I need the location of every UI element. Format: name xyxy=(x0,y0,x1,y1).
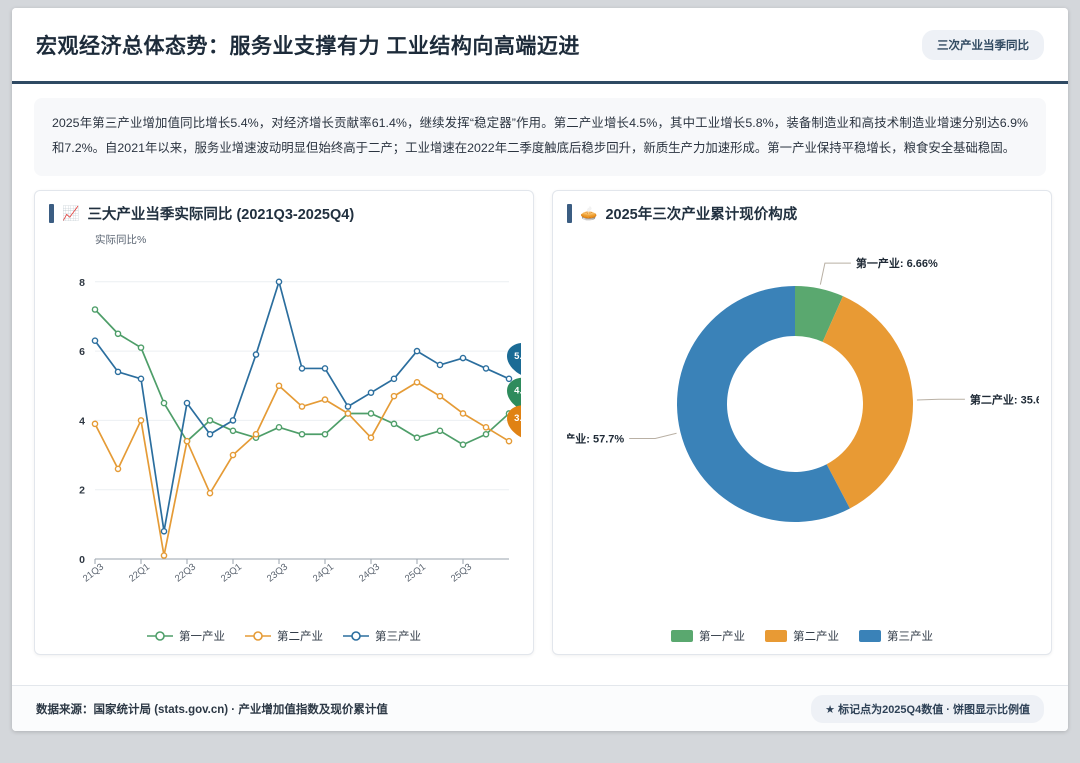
svg-text:25Q1: 25Q1 xyxy=(403,561,428,584)
legend-item-secondary[interactable]: 第二产业 xyxy=(765,628,839,644)
line-chart-icon: 📈 xyxy=(62,206,79,220)
pie-chart-icon: 🥧 xyxy=(580,206,597,220)
page-title: 宏观经济总体态势：服务业支撑有力 工业结构向高端迈进 xyxy=(36,30,580,60)
svg-text:22Q3: 22Q3 xyxy=(173,561,198,584)
accent-bar xyxy=(49,204,54,223)
svg-text:4.2%: 4.2% xyxy=(514,385,521,396)
legend-marker-tertiary xyxy=(343,630,369,642)
svg-text:0: 0 xyxy=(79,554,85,566)
line-chart-panel: 📈 三大产业当季实际同比 (2021Q3-2025Q4) 实际同比% 02468… xyxy=(34,190,534,655)
accent-bar xyxy=(567,204,572,223)
svg-text:24Q3: 24Q3 xyxy=(357,561,382,584)
pie-chart-title: 2025年三次产业累计现价构成 xyxy=(605,203,797,224)
svg-text:第三产业: 57.7%: 第三产业: 57.7% xyxy=(567,431,624,445)
line-chart-title: 三大产业当季实际同比 (2021Q3-2025Q4) xyxy=(87,203,354,224)
legend-marker-primary xyxy=(147,630,173,642)
line-chart-header: 📈 三大产业当季实际同比 (2021Q3-2025Q4) xyxy=(49,203,519,224)
summary-section: 2025年第三产业增加值同比增长5.4%，对经济增长贡献率61.4%，继续发挥“… xyxy=(12,84,1068,176)
legend-swatch-primary xyxy=(671,630,693,642)
svg-text:6: 6 xyxy=(79,346,85,358)
legend-item-tertiary[interactable]: 第三产业 xyxy=(859,628,933,644)
svg-text:8: 8 xyxy=(79,276,85,288)
legend-label-primary: 第一产业 xyxy=(699,628,745,644)
svg-text:第二产业: 35.64%: 第二产业: 35.64% xyxy=(970,392,1039,406)
legend-item-secondary[interactable]: 第二产业 xyxy=(245,628,323,644)
svg-text:4: 4 xyxy=(79,415,85,427)
legend-marker-secondary xyxy=(245,630,271,642)
svg-text:23Q3: 23Q3 xyxy=(265,561,290,584)
pie-chart-panel: 🥧 2025年三次产业累计现价构成 第一产业: 6.66%第二产业: 35.64… xyxy=(552,190,1052,655)
legend-label-secondary: 第二产业 xyxy=(793,628,839,644)
legend-label-primary: 第一产业 xyxy=(179,628,225,644)
slide-page: 宏观经济总体态势：服务业支撑有力 工业结构向高端迈进 三次产业当季同比 2025… xyxy=(0,0,1080,763)
line-chart-legend: 第一产业 第二产业 第三产业 xyxy=(35,628,533,644)
svg-text:5.2%: 5.2% xyxy=(514,350,521,361)
legend-swatch-secondary xyxy=(765,630,787,642)
header-badge: 三次产业当季同比 xyxy=(922,30,1044,60)
page-footer: 数据来源：国家统计局 (stats.gov.cn) · 产业增加值指数及现价累计… xyxy=(12,685,1068,731)
legend-label-tertiary: 第三产业 xyxy=(887,628,933,644)
svg-text:22Q1: 22Q1 xyxy=(127,561,152,584)
svg-text:23Q1: 23Q1 xyxy=(219,561,244,584)
svg-text:24Q1: 24Q1 xyxy=(311,561,336,584)
legend-item-primary[interactable]: 第一产业 xyxy=(671,628,745,644)
slide-card: 宏观经济总体态势：服务业支撑有力 工业结构向高端迈进 三次产业当季同比 2025… xyxy=(12,8,1068,731)
legend-label-secondary: 第二产业 xyxy=(277,628,323,644)
panels-row: 📈 三大产业当季实际同比 (2021Q3-2025Q4) 实际同比% 02468… xyxy=(12,176,1068,655)
pie-chart-header: 🥧 2025年三次产业累计现价构成 xyxy=(567,203,1037,224)
legend-swatch-tertiary xyxy=(859,630,881,642)
legend-item-primary[interactable]: 第一产业 xyxy=(147,628,225,644)
footer-badge: ★ 标记点为2025Q4数值 · 饼图显示比例值 xyxy=(811,695,1044,723)
svg-text:25Q3: 25Q3 xyxy=(449,561,474,584)
svg-text:第一产业: 6.66%: 第一产业: 6.66% xyxy=(856,256,938,270)
svg-text:2: 2 xyxy=(79,484,85,496)
page-header: 宏观经济总体态势：服务业支撑有力 工业结构向高端迈进 三次产业当季同比 xyxy=(12,8,1068,84)
pie-chart-legend: 第一产业 第二产业 第三产业 xyxy=(553,628,1051,644)
summary-text: 2025年第三产业增加值同比增长5.4%，对经济增长贡献率61.4%，继续发挥“… xyxy=(34,98,1046,176)
line-chart-plot: 0246821Q322Q122Q323Q123Q324Q124Q325Q125Q… xyxy=(49,247,521,617)
legend-label-tertiary: 第三产业 xyxy=(375,628,421,644)
pie-chart-plot: 第一产业: 6.66%第二产业: 35.64%第三产业: 57.7% xyxy=(567,226,1039,626)
svg-text:3.4%: 3.4% xyxy=(514,413,521,424)
legend-item-tertiary[interactable]: 第三产业 xyxy=(343,628,421,644)
footer-source: 数据来源：国家统计局 (stats.gov.cn) · 产业增加值指数及现价累计… xyxy=(36,701,388,717)
y-axis-caption: 实际同比% xyxy=(95,232,519,247)
